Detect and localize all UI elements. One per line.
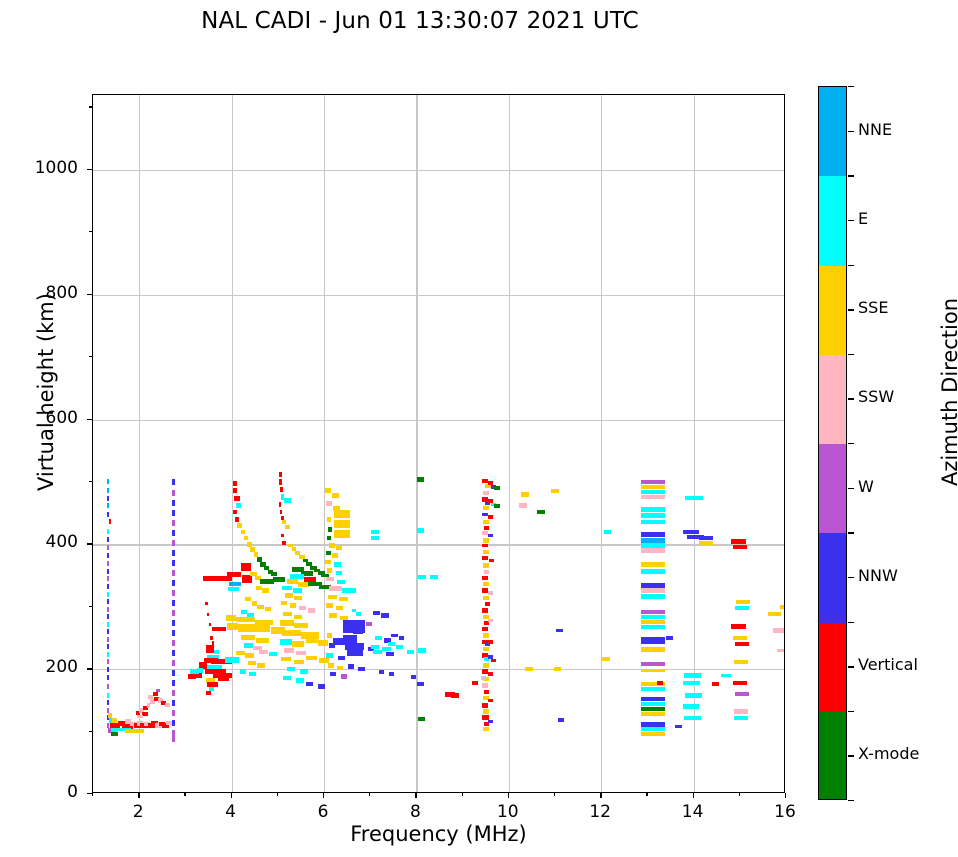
echo-pixel	[283, 612, 291, 616]
echo-pixel	[327, 517, 332, 521]
echo-pixel	[341, 674, 347, 678]
colorbar-label-e: E	[858, 209, 868, 228]
echo-pixel	[107, 592, 109, 597]
echo-pixel	[484, 570, 490, 574]
y-minor-tick	[89, 231, 92, 232]
echo-pixel	[107, 629, 109, 634]
echo-pixel	[294, 596, 301, 600]
echo-pixel	[279, 502, 282, 506]
echo-pixel	[418, 648, 425, 652]
echo-pixel	[371, 536, 378, 540]
echo-pixel	[604, 530, 611, 534]
colorbar-label-vertical: Vertical	[858, 655, 918, 674]
gridline-horizontal	[93, 420, 784, 421]
y-tick	[87, 169, 92, 170]
echo-pixel	[484, 526, 490, 530]
echo-pixel	[379, 670, 385, 674]
gridline-horizontal	[93, 295, 784, 296]
echo-pixel	[285, 593, 292, 597]
colorbar-segment	[819, 712, 846, 800]
echo-pixel	[418, 575, 425, 579]
colorbar-tick	[848, 398, 854, 399]
echo-pixel	[172, 570, 174, 576]
echo-pixel	[147, 703, 151, 707]
echo-pixel	[282, 630, 300, 636]
echo-pixel	[327, 536, 332, 540]
echo-pixel	[521, 492, 529, 496]
echo-pixel	[657, 681, 663, 685]
echo-pixel	[172, 540, 174, 546]
y-tick	[87, 543, 92, 544]
echo-pixel	[482, 627, 488, 631]
echo-pixel	[685, 496, 703, 500]
echo-pixel	[212, 641, 214, 644]
echo-pixel	[172, 640, 174, 646]
x-minor-tick	[554, 793, 555, 796]
ionogram-figure: NAL CADI - Jun 01 13:30:07 2021 UTC 2468…	[0, 0, 958, 857]
echo-pixel	[641, 507, 665, 511]
echo-pixel	[768, 612, 782, 616]
plot-area	[92, 94, 785, 793]
echo-pixel	[482, 556, 488, 560]
echo-pixel	[107, 659, 109, 664]
echo-pixel	[641, 620, 665, 624]
echo-pixel	[237, 523, 242, 527]
echo-pixel	[483, 550, 489, 554]
echo-pixel	[735, 606, 749, 610]
echo-pixel	[699, 536, 713, 540]
echo-pixel	[483, 709, 489, 713]
echo-pixel	[294, 615, 302, 619]
echo-pixel	[172, 580, 174, 586]
echo-pixel	[353, 627, 363, 633]
echo-pixel	[172, 700, 174, 706]
echo-pixel	[483, 582, 489, 586]
echo-pixel	[554, 667, 560, 671]
y-tick-label: 200	[8, 657, 78, 677]
echo-pixel	[342, 588, 356, 593]
echo-pixel	[107, 693, 109, 698]
gridline-vertical	[139, 95, 140, 792]
echo-pixel	[483, 663, 489, 667]
echo-pixel	[241, 635, 255, 640]
echo-pixel	[430, 575, 437, 579]
echo-pixel	[641, 543, 665, 547]
echo-pixel	[411, 675, 417, 679]
echo-pixel	[735, 642, 749, 646]
colorbar-segment	[819, 533, 846, 622]
echo-pixel	[641, 707, 665, 711]
x-tick	[693, 793, 694, 798]
echo-pixel	[712, 682, 719, 686]
echo-pixel	[334, 530, 350, 538]
echo-pixel	[254, 552, 259, 556]
echo-pixel	[247, 542, 252, 546]
echo-pixel	[236, 651, 244, 655]
echo-pixel	[283, 676, 290, 680]
echo-pixel	[107, 576, 109, 581]
colorbar-boundary-tick	[848, 711, 854, 712]
echo-pixel	[373, 650, 382, 654]
echo-pixel	[641, 712, 665, 716]
echo-pixel	[282, 520, 286, 524]
echo-pixel	[172, 590, 174, 596]
colorbar-boundary-tick	[848, 86, 854, 87]
gridline-horizontal	[93, 170, 784, 171]
echo-pixel	[172, 690, 174, 696]
echo-pixel	[482, 683, 488, 687]
echo-pixel	[337, 580, 345, 584]
echo-pixel	[326, 501, 332, 506]
x-tick-label: 10	[478, 802, 538, 822]
y-minor-tick	[89, 731, 92, 732]
echo-pixel	[417, 477, 423, 481]
echo-pixel	[257, 557, 262, 561]
echo-pixel	[269, 652, 277, 656]
echo-pixel	[279, 472, 283, 478]
echo-pixel	[107, 622, 109, 627]
echo-pixel	[734, 716, 748, 720]
echo-pixel	[391, 634, 397, 638]
colorbar-boundary-tick	[848, 175, 854, 176]
x-minor-tick	[184, 793, 185, 796]
echo-pixel	[334, 562, 340, 566]
echo-pixel	[214, 650, 219, 654]
echo-pixel	[165, 703, 170, 707]
echo-pixel	[172, 560, 174, 566]
gridline-vertical	[416, 95, 417, 792]
echo-pixel	[373, 611, 380, 615]
gridline-vertical	[694, 95, 695, 792]
colorbar-boundary-tick	[848, 532, 854, 533]
echo-pixel	[641, 548, 665, 552]
echo-pixel	[209, 623, 211, 626]
echo-pixel	[733, 636, 747, 640]
echo-pixel	[327, 633, 333, 637]
echo-pixel	[330, 672, 336, 676]
echo-pixel	[206, 645, 214, 652]
echo-pixel	[107, 584, 109, 589]
echo-pixel	[172, 520, 174, 526]
colorbar-label-x-mode: X-mode	[858, 744, 919, 763]
echo-pixel	[641, 532, 665, 537]
echo-pixel	[339, 597, 348, 601]
echo-pixel	[259, 650, 267, 654]
echo-pixel	[451, 693, 459, 698]
x-minor-tick	[369, 793, 370, 796]
echo-pixel	[491, 659, 496, 663]
echo-pixel	[386, 652, 394, 656]
echo-pixel	[773, 628, 785, 632]
echo-pixel	[172, 490, 174, 496]
echo-pixel	[641, 697, 665, 701]
echo-pixel	[107, 537, 109, 542]
echo-pixel	[683, 530, 700, 534]
echo-pixel	[172, 620, 174, 626]
echo-pixel	[336, 546, 342, 550]
colorbar-tick	[848, 309, 854, 310]
echo-pixel	[780, 605, 785, 609]
echo-pixel	[153, 692, 158, 696]
echo-pixel	[107, 496, 109, 501]
echo-pixel	[641, 513, 665, 517]
echo-pixel	[218, 675, 229, 681]
y-tick	[87, 793, 92, 794]
echo-pixel	[299, 606, 305, 610]
echo-pixel	[107, 553, 109, 558]
echo-pixel	[172, 550, 174, 556]
echo-pixel	[482, 703, 488, 707]
echo-pixel	[249, 672, 255, 676]
echo-pixel	[733, 681, 747, 685]
echo-pixel	[280, 620, 294, 626]
echo-pixel	[245, 597, 251, 601]
echo-pixel	[328, 663, 334, 667]
echo-pixel	[225, 657, 239, 663]
y-tick	[87, 668, 92, 669]
echo-pixel	[112, 718, 117, 722]
echo-pixel	[329, 613, 337, 617]
x-minor-tick	[277, 793, 278, 796]
echo-pixel	[109, 519, 111, 524]
echo-pixel	[334, 510, 350, 518]
echo-pixel	[273, 577, 285, 582]
echo-pixel	[166, 721, 172, 725]
echo-pixel	[290, 603, 296, 607]
colorbar-segment	[819, 266, 846, 355]
colorbar-boundary-tick	[848, 800, 854, 801]
echo-pixel	[107, 529, 109, 534]
gridline-vertical	[509, 95, 510, 792]
colorbar-boundary-tick	[848, 354, 854, 355]
echo-pixel	[107, 503, 109, 508]
echo-pixel	[417, 682, 423, 686]
echo-pixel	[641, 702, 665, 706]
echo-pixel	[777, 649, 785, 653]
echo-pixel	[347, 650, 363, 656]
echo-pixel	[227, 572, 241, 577]
echo-pixel	[229, 582, 241, 586]
echo-pixel	[382, 647, 390, 651]
echo-pixel	[488, 699, 493, 703]
echo-pixel	[188, 674, 195, 678]
echo-pixel	[172, 650, 174, 656]
echo-pixel	[488, 534, 493, 538]
echo-pixel	[327, 568, 333, 572]
echo-pixel	[488, 515, 493, 519]
echo-pixel	[537, 510, 544, 514]
echo-pixel	[326, 551, 332, 555]
echo-pixel	[281, 601, 287, 605]
echo-pixel	[483, 491, 489, 495]
echo-pixel	[280, 639, 292, 645]
echo-pixel	[641, 490, 665, 494]
echo-pixel	[641, 732, 665, 736]
echo-pixel	[172, 500, 174, 506]
x-tick	[785, 793, 786, 798]
echo-pixel	[257, 605, 263, 609]
echo-pixel	[107, 644, 109, 649]
echo-pixel	[641, 722, 665, 727]
echo-pixel	[325, 560, 331, 564]
echo-pixel	[172, 660, 174, 666]
echo-pixel	[235, 517, 239, 521]
echo-pixel	[241, 530, 246, 534]
echo-pixel	[262, 588, 269, 592]
echo-pixel	[735, 692, 749, 696]
x-tick	[231, 793, 232, 798]
echo-pixel	[348, 664, 354, 668]
echo-pixel	[172, 710, 174, 716]
echo-pixel	[684, 716, 701, 720]
colorbar-label-nne: NNE	[858, 120, 892, 139]
echo-pixel	[685, 693, 702, 697]
echo-pixel	[172, 600, 174, 606]
echo-pixel	[172, 670, 174, 676]
echo-pixel	[336, 571, 342, 575]
echo-pixel	[371, 645, 379, 649]
echo-pixel	[641, 637, 665, 644]
colorbar-label-sse: SSE	[858, 298, 888, 317]
colorbar-segment	[819, 444, 846, 533]
echo-pixel	[329, 543, 335, 547]
echo-pixel	[483, 727, 489, 731]
echo-pixel	[172, 479, 174, 485]
colorbar-boundary-tick	[848, 265, 854, 266]
y-tick-label: 0	[8, 782, 78, 802]
echo-pixel	[285, 525, 290, 529]
echo-pixel	[684, 673, 701, 677]
echo-pixel	[318, 684, 325, 688]
echo-pixel	[227, 623, 238, 630]
echo-pixel	[734, 660, 748, 664]
echo-pixel	[212, 627, 226, 631]
echo-pixel	[172, 610, 174, 616]
echo-pixel	[641, 569, 665, 574]
echo-pixel	[641, 625, 665, 629]
echo-pixel	[226, 615, 236, 621]
echo-pixel	[683, 681, 700, 685]
colorbar-tick	[848, 577, 854, 578]
colorbar-boundary-tick	[848, 443, 854, 444]
echo-pixel	[326, 653, 333, 657]
echo-pixel	[418, 717, 424, 721]
colorbar-tick	[848, 131, 854, 132]
echo-pixel	[641, 495, 665, 499]
echo-pixel	[482, 531, 488, 535]
echo-pixel	[107, 675, 109, 680]
x-tick	[600, 793, 601, 798]
echo-pixel	[233, 488, 238, 493]
echo-pixel	[156, 689, 160, 693]
echo-pixel	[337, 666, 343, 670]
x-tick-label: 8	[385, 802, 445, 822]
y-minor-tick	[89, 481, 92, 482]
echo-pixel	[107, 614, 109, 619]
x-tick-label: 4	[201, 802, 261, 822]
echo-pixel	[407, 650, 413, 654]
echo-pixel	[107, 652, 109, 657]
echo-pixel	[292, 641, 304, 647]
echo-pixel	[482, 576, 488, 580]
echo-pixel	[483, 506, 489, 510]
echo-pixel	[207, 682, 218, 687]
echo-pixel	[417, 528, 423, 532]
echo-pixel	[306, 638, 318, 644]
echo-pixel	[338, 656, 345, 660]
echo-pixel	[107, 723, 109, 728]
echo-pixel	[736, 600, 750, 604]
echo-pixel	[494, 486, 500, 490]
echo-pixel	[328, 527, 333, 531]
y-axis-title: Virtual height (km)	[34, 262, 58, 522]
echo-pixel	[525, 667, 532, 671]
echo-pixel	[107, 479, 109, 484]
colorbar-segment	[819, 355, 846, 444]
echo-pixel	[107, 607, 109, 612]
echo-pixel	[107, 488, 109, 493]
echo-pixel	[300, 669, 308, 673]
echo-pixel	[207, 613, 209, 616]
echo-pixel	[326, 603, 333, 607]
echo-pixel	[399, 636, 405, 640]
echo-pixel	[556, 629, 563, 633]
echo-pixel	[240, 669, 246, 673]
echo-pixel	[675, 725, 681, 729]
echo-pixel	[641, 615, 665, 619]
echo-pixel	[641, 727, 665, 731]
echo-pixel	[488, 720, 493, 724]
echo-pixel	[551, 489, 558, 493]
echo-pixel	[482, 608, 488, 612]
y-minor-tick	[89, 356, 92, 357]
echo-pixel	[641, 520, 665, 524]
echo-pixel	[265, 607, 271, 611]
echo-pixel	[334, 520, 350, 528]
echo-pixel	[325, 488, 331, 493]
echo-pixel	[641, 538, 665, 542]
colorbar-label-w: W	[858, 477, 874, 496]
echo-pixel	[244, 536, 249, 540]
echo-pixel	[172, 730, 174, 736]
echo-pixel	[488, 619, 493, 623]
x-tick	[323, 793, 324, 798]
echo-pixel	[108, 713, 113, 717]
y-minor-tick	[89, 106, 92, 107]
echo-pixel	[236, 617, 254, 622]
echo-pixel	[107, 599, 109, 604]
echo-pixel	[284, 648, 293, 652]
chart-title: NAL CADI - Jun 01 13:30:07 2021 UTC	[0, 8, 840, 34]
echo-pixel	[389, 672, 395, 676]
echo-pixel	[233, 510, 237, 514]
echo-pixel	[483, 538, 489, 542]
echo-pixel	[172, 510, 174, 516]
echo-pixel	[107, 667, 109, 672]
echo-pixel	[731, 539, 747, 544]
echo-pixel	[294, 623, 308, 629]
echo-pixel	[284, 498, 290, 502]
echo-pixel	[489, 559, 494, 563]
echo-pixel	[558, 718, 564, 722]
echo-pixel	[282, 586, 291, 590]
echo-pixel	[293, 588, 302, 592]
echo-pixel	[329, 643, 335, 647]
echo-pixel	[111, 732, 118, 736]
echo-pixel	[641, 610, 665, 614]
echo-pixel	[107, 512, 109, 517]
x-tick	[415, 793, 416, 798]
